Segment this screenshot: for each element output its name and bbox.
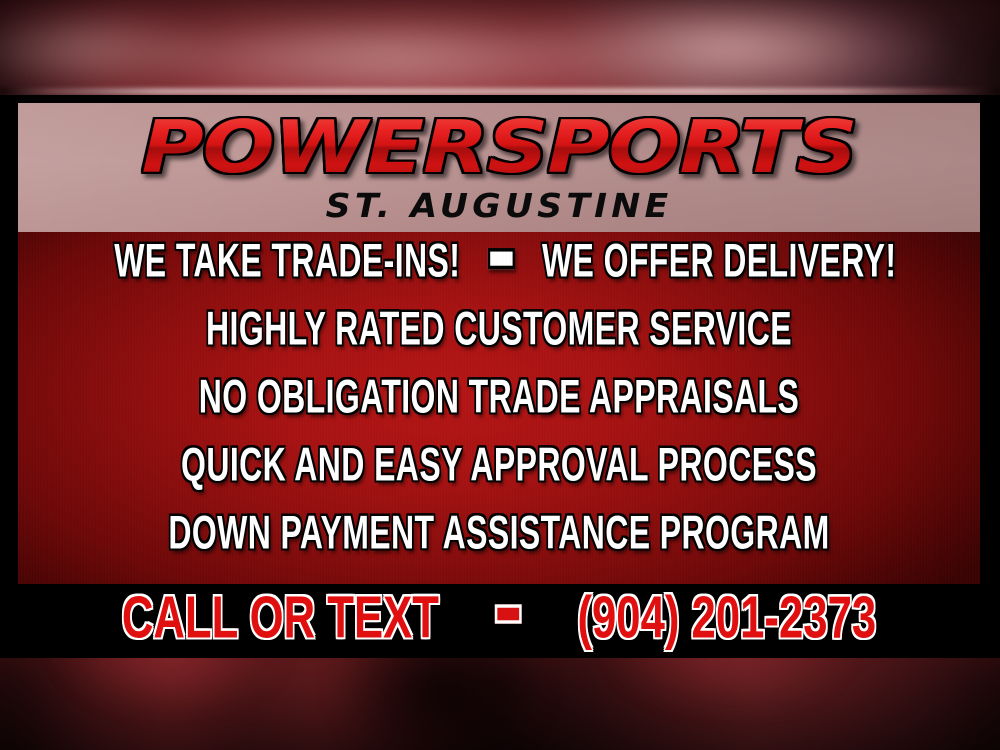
- brand-wordmark: POWERSPORTS: [18, 109, 980, 185]
- brand-location: ST. AUGUSTINE: [18, 187, 980, 225]
- backdrop-top: [0, 0, 1000, 95]
- backdrop-bottom-glow: [0, 658, 1000, 750]
- call-to-action-row: CALL OR TEXT (904) 201-2373: [95, 584, 903, 657]
- feature-line-3: NO OBLIGATION TRADE APPRAISALS: [114, 371, 884, 423]
- backdrop-bottom: [0, 658, 1000, 750]
- phone-number[interactable]: (904) 201-2373: [577, 585, 876, 651]
- backdrop-top-highlight: [0, 88, 1000, 95]
- call-separator-dash-icon: [495, 604, 522, 623]
- feature-trade-ins: WE TAKE TRADE-INS!: [114, 235, 460, 287]
- feature-line-2: HIGHLY RATED CUSTOMER SERVICE: [114, 303, 884, 355]
- call-or-text-label: CALL OR TEXT: [122, 585, 439, 651]
- backdrop-top-glow: [0, 0, 1000, 95]
- feature-line-1: WE TAKE TRADE-INS! WE OFFER DELIVERY!: [114, 235, 884, 287]
- feature-line-4: QUICK AND EASY APPROVAL PROCESS: [114, 439, 884, 491]
- ad-card: POWERSPORTS ST. AUGUSTINE WE TAKE TRADE-…: [18, 100, 980, 660]
- feature-delivery: WE OFFER DELIVERY!: [542, 235, 896, 287]
- feature-line-1-row: WE TAKE TRADE-INS! WE OFFER DELIVERY!: [114, 235, 896, 287]
- advertisement-banner: POWERSPORTS ST. AUGUSTINE WE TAKE TRADE-…: [0, 0, 1000, 750]
- feature-line-5: DOWN PAYMENT ASSISTANCE PROGRAM: [114, 507, 884, 559]
- call-to-action-bar: CALL OR TEXT (904) 201-2373: [18, 584, 980, 660]
- features-panel: WE TAKE TRADE-INS! WE OFFER DELIVERY! HI…: [18, 232, 980, 584]
- separator-dash-icon: [488, 248, 515, 269]
- logo-banner: POWERSPORTS ST. AUGUSTINE: [18, 103, 980, 232]
